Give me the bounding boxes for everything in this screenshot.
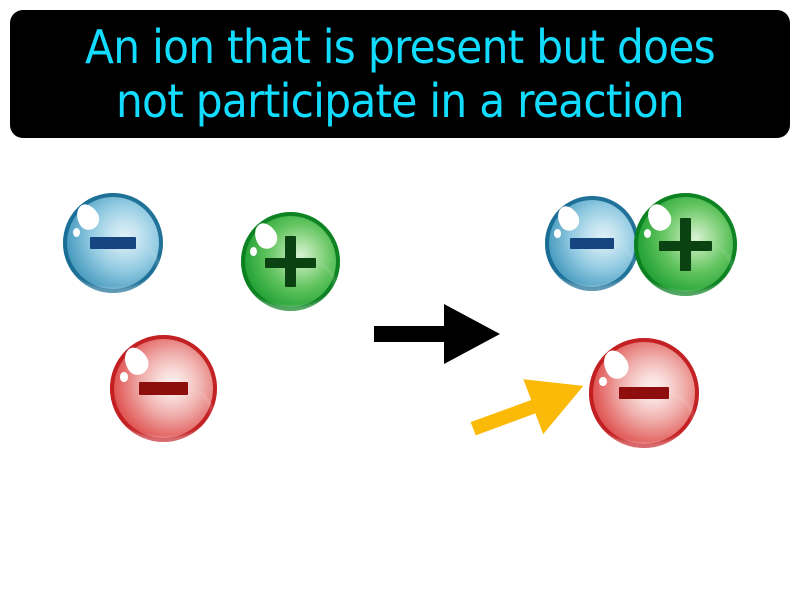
ion-right-spectator bbox=[589, 338, 699, 448]
ion-left-anion bbox=[63, 193, 163, 293]
definition-banner: An ion that is present but does not part… bbox=[10, 10, 790, 138]
reaction-arrow-icon bbox=[374, 299, 500, 369]
ion-left-cation bbox=[241, 212, 340, 311]
sphere-body bbox=[545, 196, 639, 291]
ion-right-anion bbox=[545, 196, 639, 291]
ion-left-spectator bbox=[110, 335, 217, 442]
sphere-body bbox=[634, 193, 737, 296]
ion-right-cation bbox=[634, 193, 737, 296]
sphere-body bbox=[63, 193, 163, 293]
definition-text: An ion that is present but does not part… bbox=[54, 20, 746, 129]
spectator-pointer-arrow-icon bbox=[466, 363, 588, 445]
sphere-body bbox=[241, 212, 340, 311]
reaction-diagram bbox=[0, 140, 800, 600]
sphere-body bbox=[110, 335, 217, 442]
sphere-body bbox=[589, 338, 699, 448]
